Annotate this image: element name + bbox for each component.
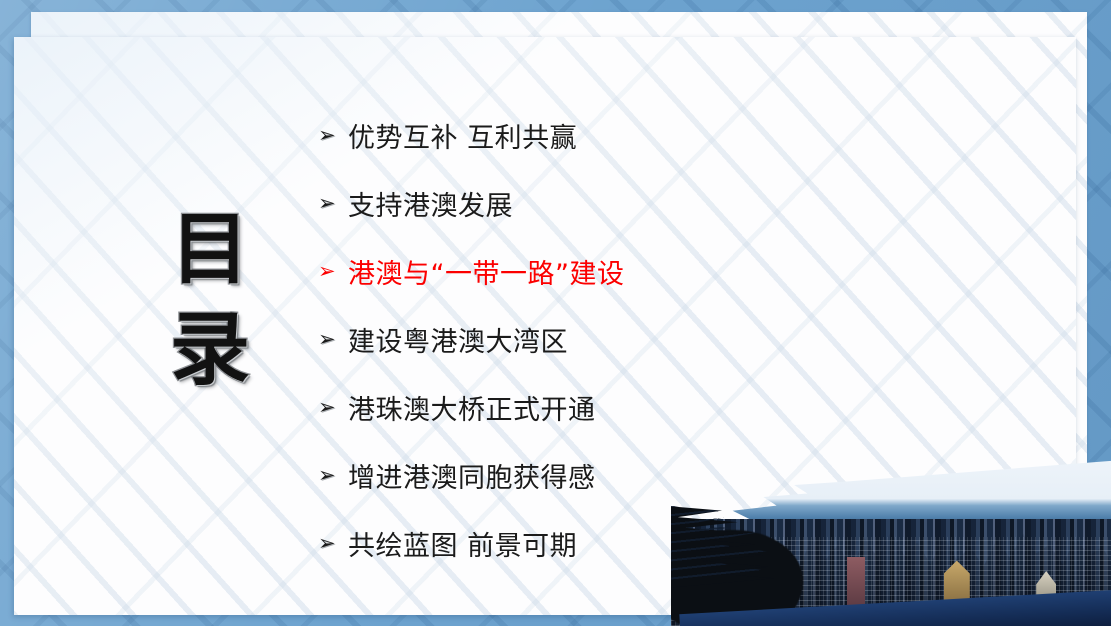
list-item-label: 共绘蓝图 前景可期	[348, 524, 577, 563]
list-item-label: 港珠澳大桥正式开通	[348, 388, 596, 427]
arrow-bullet-icon: ➢	[318, 193, 348, 214]
list-item[interactable]: ➢ 支持港澳发展	[318, 169, 918, 237]
list-item[interactable]: ➢ 建设粤港澳大湾区	[318, 305, 918, 373]
list-item[interactable]: ➢ 港珠澳大桥正式开通	[318, 373, 918, 441]
page-title-char-1: 目	[150, 206, 270, 293]
list-item-label: 港澳与“一带一路”建设	[348, 252, 624, 291]
list-item-active[interactable]: ➢ 港澳与“一带一路”建设	[318, 237, 918, 305]
page-title: 目 录	[150, 206, 270, 395]
arrow-bullet-icon: ➢	[318, 261, 348, 282]
presentation-slide: 目 录 ➢ 优势互补 互利共赢 ➢ 支持港澳发展 ➢ 港澳与“一带一路”建设 ➢…	[0, 0, 1111, 626]
arrow-bullet-icon: ➢	[318, 397, 348, 418]
page-title-char-2: 录	[150, 305, 270, 395]
list-item-label: 增进港澳同胞获得感	[348, 456, 596, 495]
arrow-bullet-icon: ➢	[318, 125, 348, 146]
list-item-label: 支持港澳发展	[348, 184, 513, 223]
list-item[interactable]: ➢ 共绘蓝图 前景可期	[318, 509, 918, 577]
arrow-bullet-icon: ➢	[318, 533, 348, 554]
list-item[interactable]: ➢ 增进港澳同胞获得感	[318, 441, 918, 509]
table-of-contents-list: ➢ 优势互补 互利共赢 ➢ 支持港澳发展 ➢ 港澳与“一带一路”建设 ➢ 建设粤…	[318, 101, 918, 577]
list-item-label: 建设粤港澳大湾区	[348, 320, 568, 359]
arrow-bullet-icon: ➢	[318, 465, 348, 486]
list-item[interactable]: ➢ 优势互补 互利共赢	[318, 101, 918, 169]
arrow-bullet-icon: ➢	[318, 329, 348, 350]
list-item-label: 优势互补 互利共赢	[348, 116, 577, 155]
